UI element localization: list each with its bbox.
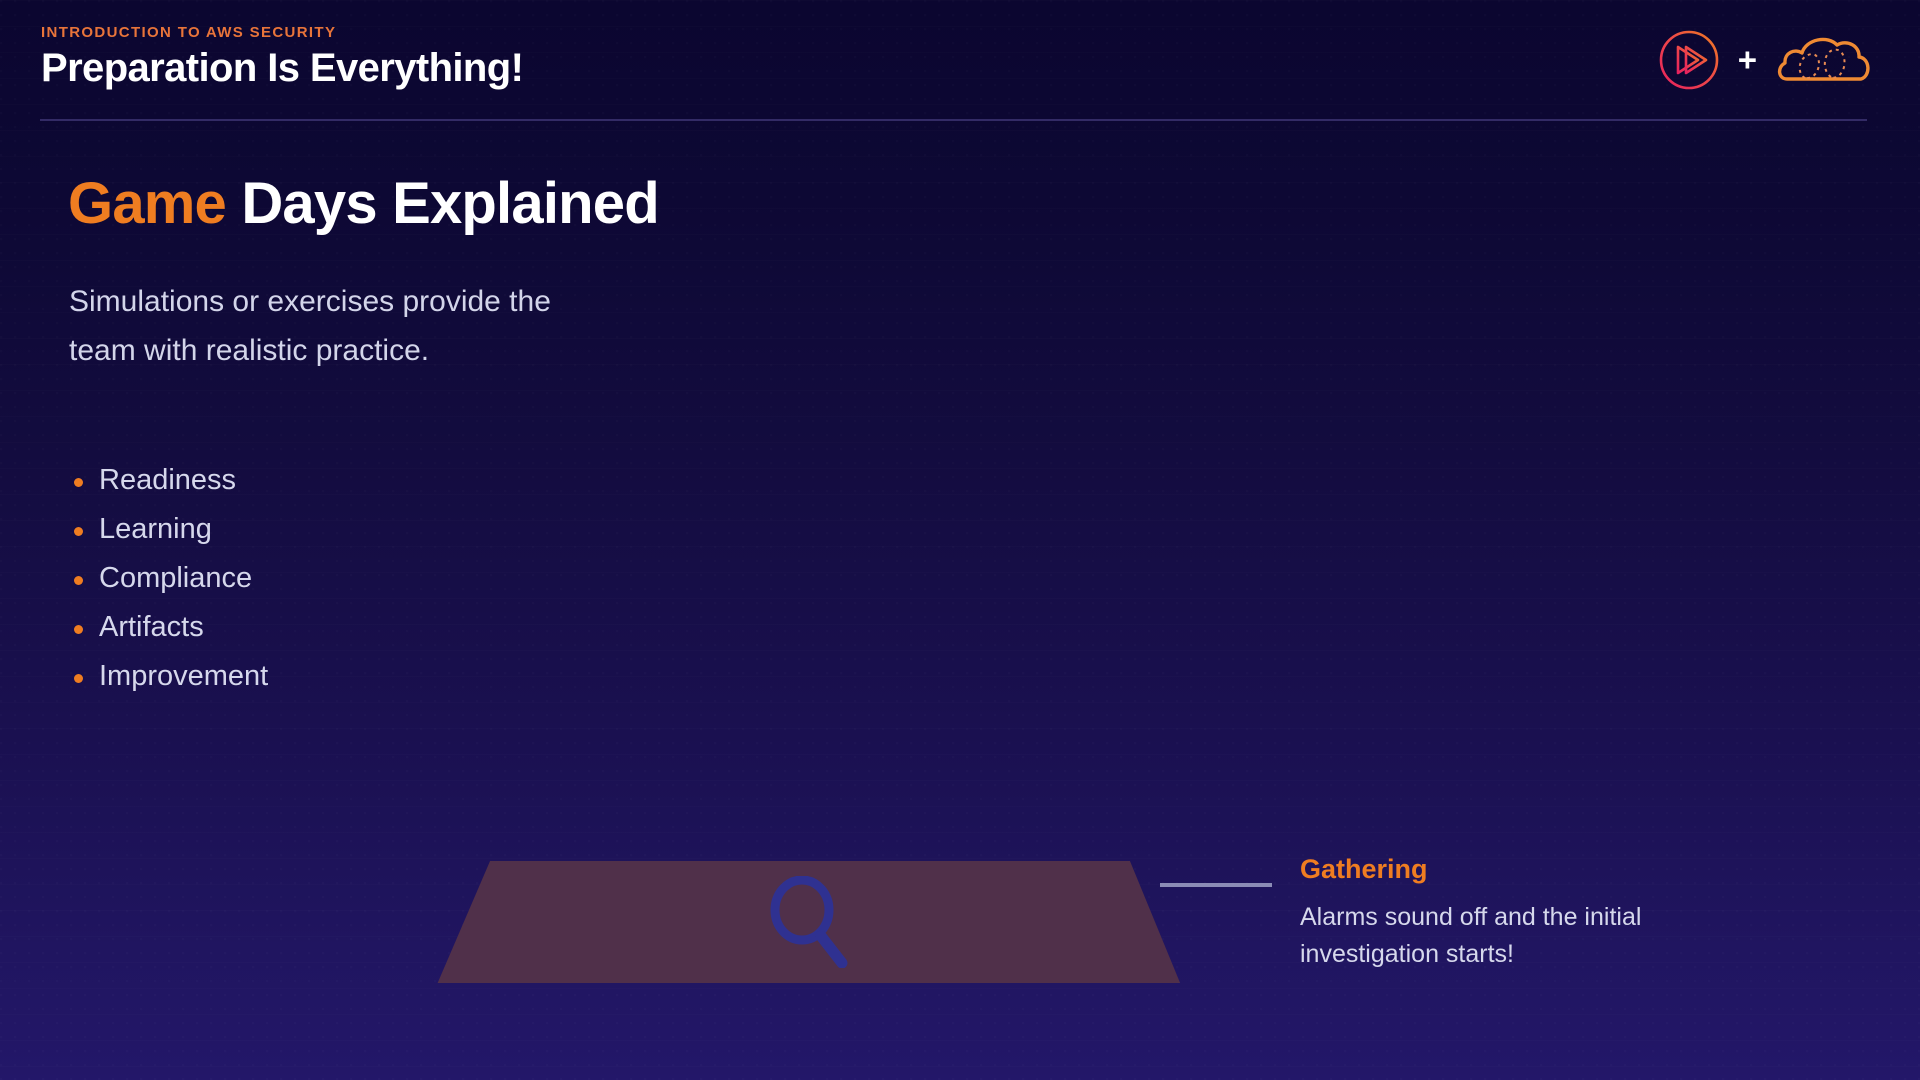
list-item-label: Compliance [99,562,252,594]
intro-paragraph: Simulations or exercises provide the tea… [69,277,589,375]
page-title-highlight: Game [68,171,226,236]
phase-connector-line [1160,883,1272,887]
list-item-label: Learning [99,513,212,545]
list-item: Compliance [69,554,268,603]
header-divider [40,119,1867,121]
phase-tile [430,861,1190,983]
page-title: Game Days Explained [68,174,659,235]
phase-description: Alarms sound off and the initial investi… [1300,899,1770,973]
list-item: Learning [69,505,268,554]
list-item-label: Artifacts [99,611,204,643]
play-triangle-logo [1658,29,1720,91]
phase-callout: Gathering Alarms sound off and the initi… [0,845,1920,1025]
cloud-logo [1775,29,1873,91]
phase-label: Gathering [1300,855,1770,885]
benefits-list: Readiness Learning Compliance Artifacts … [69,456,268,701]
list-item-label: Improvement [99,660,268,692]
deck-title: Preparation Is Everything! [41,46,523,91]
slide-root: INTRODUCTION TO AWS SECURITY Preparation… [0,0,1920,1080]
phase-copy: Gathering Alarms sound off and the initi… [1300,855,1770,973]
brand-plus-separator: + [1738,43,1757,76]
brand-lockup: + [1658,24,1873,96]
list-item: Readiness [69,456,268,505]
list-item: Improvement [69,652,268,701]
course-eyebrow: INTRODUCTION TO AWS SECURITY [41,24,336,41]
list-item-label: Readiness [99,464,236,496]
list-item: Artifacts [69,603,268,652]
page-title-rest: Days Explained [226,171,659,236]
slide-header: INTRODUCTION TO AWS SECURITY Preparation… [0,0,1920,122]
